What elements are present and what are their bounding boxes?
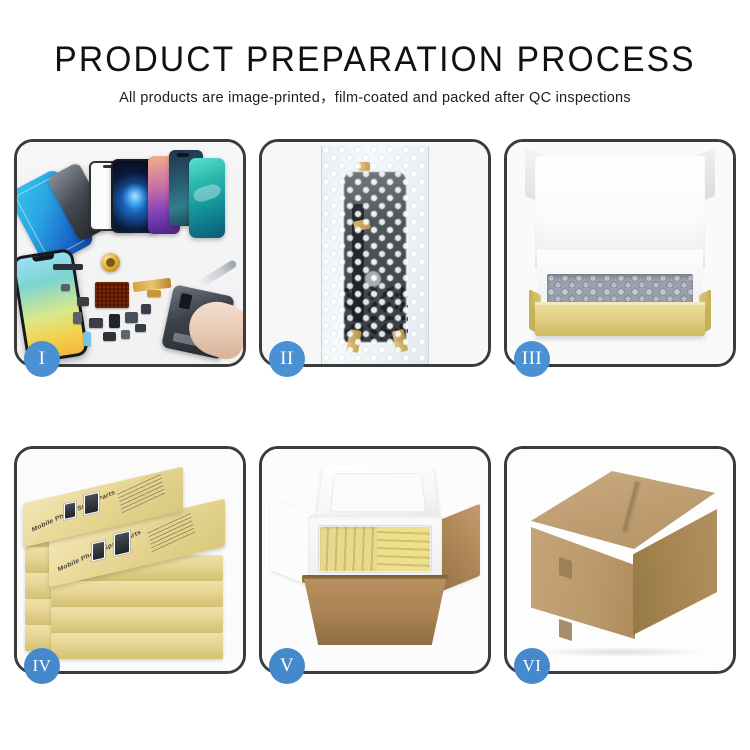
bubble-wrap-scene (262, 142, 488, 364)
step-5-image (262, 449, 488, 671)
step-6-image (507, 449, 733, 671)
step-1-image (17, 142, 243, 364)
carton-tape-patch (559, 619, 572, 641)
phone-parts-collage (17, 142, 243, 364)
header: PRODUCT PREPARATION PROCESS All products… (0, 40, 750, 107)
carton-body (304, 579, 446, 645)
box-front-panel (535, 302, 705, 336)
process-step-6: VI (504, 446, 736, 674)
small-part-icon (147, 290, 161, 297)
foam-padding-icon (547, 274, 693, 304)
carton-foam-scene (262, 449, 488, 671)
gold-coil-part-icon (101, 253, 120, 272)
step-badge-2: II (269, 341, 305, 377)
carton-shadow (533, 647, 707, 657)
stacked-box-edge (51, 607, 223, 633)
sealed-carton-scene (507, 449, 733, 671)
page-title: PRODUCT PREPARATION PROCESS (15, 40, 735, 80)
chip-grid-part-icon (95, 282, 129, 308)
small-part-icon (109, 314, 120, 328)
small-part-icon (121, 330, 130, 339)
styrofoam-insert-icon (308, 515, 442, 579)
carton-tape-patch (559, 557, 572, 579)
step-badge-6: VI (514, 648, 550, 684)
page-subtitle: All products are image-printed，film-coat… (0, 89, 750, 107)
phone-screen-teal-icon (189, 158, 225, 238)
process-step-grid: I II (14, 139, 736, 674)
step-badge-4: IV (24, 648, 60, 684)
styrofoam-cavity (318, 525, 432, 573)
small-part-icon (83, 332, 91, 346)
box-label-window (91, 539, 106, 562)
open-mailer-box-scene (507, 142, 733, 364)
step-badge-1: I (24, 341, 60, 377)
tweezers-icon (196, 259, 238, 289)
process-step-3: III (504, 139, 736, 367)
product-preparation-infographic: PRODUCT PREPARATION PROCESS All products… (0, 0, 750, 750)
box-label-window (83, 491, 100, 517)
small-part-icon (89, 318, 103, 328)
small-part-icon (103, 332, 116, 341)
small-part-icon (77, 297, 89, 306)
box-label-spec-lines (117, 471, 165, 513)
process-step-1: I (14, 139, 246, 367)
stacked-box-edge (51, 633, 223, 659)
bubble-wrap-bag-icon (321, 146, 429, 364)
step-badge-3: III (514, 341, 550, 377)
step-3-image (507, 142, 733, 364)
step-badge-5: V (269, 648, 305, 684)
step-4-image: Mobile Phone Spare Parts Mobile Phone Sp… (17, 449, 243, 671)
box-stack: Mobile Phone Spare Parts Mobile Phone Sp… (23, 469, 243, 665)
small-part-icon (61, 284, 70, 291)
process-step-5: V (259, 446, 491, 674)
box-label-window (113, 529, 131, 557)
process-step-4: Mobile Phone Spare Parts Mobile Phone Sp… (14, 446, 246, 674)
small-part-icon (135, 324, 146, 332)
battery-connector-icon (53, 264, 83, 270)
step-2-image (262, 142, 488, 364)
small-part-icon (73, 312, 82, 324)
small-part-icon (125, 312, 138, 323)
stacked-box-edge (51, 581, 223, 607)
box-label-window (63, 500, 77, 521)
stacked-boxes-scene: Mobile Phone Spare Parts Mobile Phone Sp… (17, 449, 243, 671)
bubble-texture (322, 146, 428, 364)
small-part-icon (141, 304, 151, 314)
packed-boxes-right (377, 527, 430, 571)
process-step-2: II (259, 139, 491, 367)
